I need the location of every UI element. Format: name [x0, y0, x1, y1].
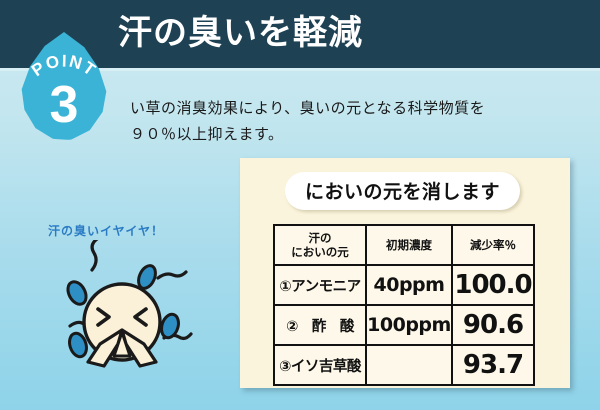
sweating-face-pinching-nose-icon: [30, 240, 230, 390]
table-header-row: 汗の においの元 初期濃度 減少率％: [274, 225, 534, 265]
row-2-concentration: [366, 345, 452, 385]
result-panel: においの元を消します 汗の においの元 初期濃度 減少率％ ①アンモニア: [240, 158, 570, 388]
table-row: ③イソ吉草酸 93.7: [274, 345, 534, 385]
row-1-name: ② 酢 酸: [274, 305, 366, 345]
table-row: ② 酢 酸 100ppm 90.6: [274, 305, 534, 345]
table-row: ①アンモニア 40ppm 100.0: [274, 265, 534, 305]
header-odor-source: 汗の においの元: [274, 225, 366, 265]
row-2-name: ③イソ吉草酸: [274, 345, 366, 385]
panel-title: においの元を消します: [285, 172, 520, 210]
infographic-slide: 汗の臭いを軽減 POINT 3 い草の消臭効果により、臭いの元となる科学物質を …: [0, 0, 600, 410]
illustration-caption: 汗の臭いイヤイヤ！: [48, 222, 164, 239]
row-2-reduction: 93.7: [452, 345, 534, 385]
row-1-reduction: 90.6: [452, 305, 534, 345]
odor-reduction-table: 汗の においの元 初期濃度 減少率％ ①アンモニア 40ppm 100.0 ② …: [273, 224, 535, 386]
row-0-concentration: 40ppm: [366, 265, 452, 305]
row-0-reduction: 100.0: [452, 265, 534, 305]
header-odor-source-line1: 汗の: [275, 231, 365, 245]
row-0-name: ①アンモニア: [274, 265, 366, 305]
point-badge: POINT 3: [18, 32, 110, 140]
header-odor-source-line2: においの元: [275, 245, 365, 259]
header-reduction-rate: 減少率％: [452, 225, 534, 265]
header-initial-concentration: 初期濃度: [366, 225, 452, 265]
body-line-2: ９０％以上抑えます。: [130, 122, 550, 148]
body-line-1: い草の消臭効果により、臭いの元となる科学物質を: [130, 96, 550, 122]
row-1-concentration: 100ppm: [366, 305, 452, 345]
page-title: 汗の臭いを軽減: [118, 10, 363, 58]
illustration-group: 汗の臭いイヤイヤ！: [30, 222, 230, 392]
point-number: 3: [18, 76, 110, 134]
body-paragraph: い草の消臭効果により、臭いの元となる科学物質を ９０％以上抑えます。: [130, 96, 550, 148]
